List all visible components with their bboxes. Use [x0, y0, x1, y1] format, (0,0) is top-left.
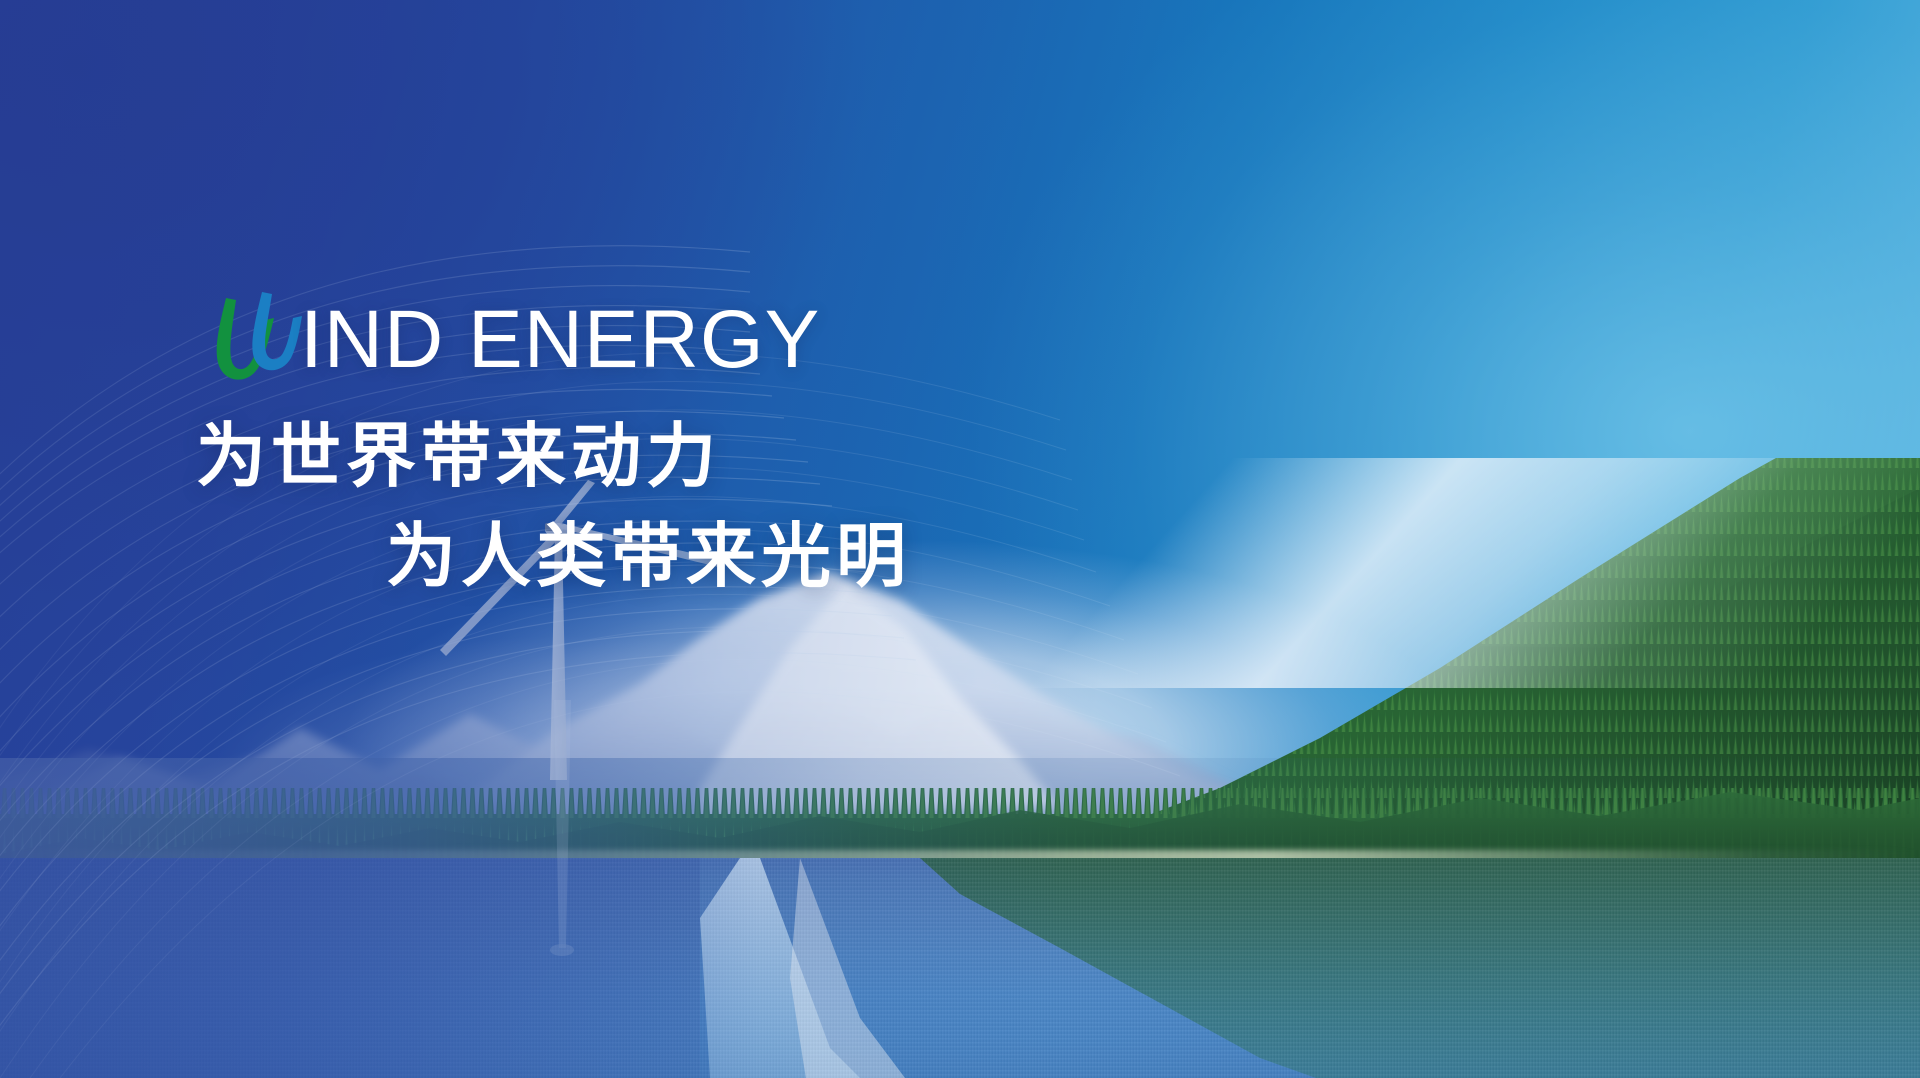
water-vertical-grain [0, 858, 1920, 1078]
lake-reflection-icon [0, 858, 1920, 1078]
hero-banner: IND ENERGY 为世界带来动力 为人类带来光明 [0, 0, 1920, 1078]
lake-icon [0, 858, 1920, 1078]
landscape-photo [0, 458, 1920, 1078]
wind-turbine-reflection-icon [396, 700, 736, 1000]
water-horizontal-grain [0, 858, 1920, 1078]
